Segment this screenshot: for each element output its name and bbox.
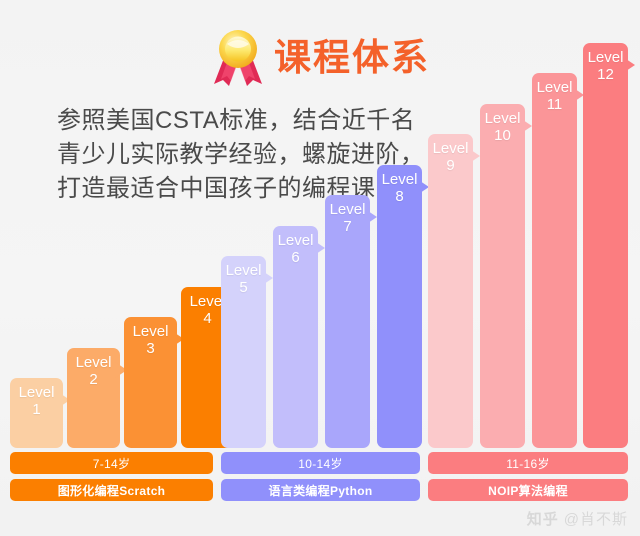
age-range-noip: 11-16岁 xyxy=(428,452,628,474)
bar-level-number: 2 xyxy=(67,371,120,388)
course-python: 语言类编程Python xyxy=(221,479,420,501)
bar-label: Level 5 xyxy=(221,262,266,296)
watermark: 知乎 @肖不斯 xyxy=(527,508,628,529)
bar-label-text: Level xyxy=(588,49,624,66)
bar-level-number: 8 xyxy=(377,188,422,205)
bar-label-text: Level xyxy=(19,384,55,401)
bar-label-text: Level xyxy=(76,354,112,371)
bar-level-number: 9 xyxy=(428,157,473,174)
bar-level-9: Level 9 xyxy=(428,134,473,448)
bar-level-3: Level 3 xyxy=(124,317,177,448)
bar-level-7: Level 7 xyxy=(325,195,370,448)
bar-label: Level 7 xyxy=(325,201,370,235)
bar-label-text: Level xyxy=(485,110,521,127)
bar-level-12: Level 12 xyxy=(583,43,628,448)
bar-label-text: Level xyxy=(330,201,366,218)
course-scratch: 图形化编程Scratch xyxy=(10,479,213,501)
bar-level-number: 1 xyxy=(10,401,63,418)
bar-label-text: Level xyxy=(382,171,418,188)
watermark-platform: 知乎 xyxy=(527,508,559,529)
bar-label-text: Level xyxy=(537,79,573,96)
bar-level-number: 12 xyxy=(583,66,628,83)
course-noip: NOIP算法编程 xyxy=(428,479,628,501)
bar-label: Level 10 xyxy=(480,110,525,144)
bar-label-text: Level xyxy=(133,323,169,340)
age-range-scratch: 7-14岁 xyxy=(10,452,213,474)
bar-level-10: Level 10 xyxy=(480,104,525,448)
bar-label: Level 1 xyxy=(10,384,63,418)
bar-label: Level 12 xyxy=(583,49,628,83)
bar-level-1: Level 1 xyxy=(10,378,63,448)
watermark-author: @肖不斯 xyxy=(564,508,628,529)
bar-label: Level 11 xyxy=(532,79,577,113)
bar-level-number: 7 xyxy=(325,218,370,235)
bar-level-number: 10 xyxy=(480,127,525,144)
bar-label: Level 9 xyxy=(428,140,473,174)
bar-level-11: Level 11 xyxy=(532,73,577,448)
bar-level-number: 5 xyxy=(221,279,266,296)
bar-level-2: Level 2 xyxy=(67,348,120,448)
bar-label-text: Level xyxy=(226,262,262,279)
bar-level-number: 6 xyxy=(273,249,318,266)
bar-label-text: Level xyxy=(278,232,314,249)
bar-label: Level 3 xyxy=(124,323,177,357)
bar-level-number: 3 xyxy=(124,340,177,357)
infographic-canvas: 课程体系 参照美国CSTA标准，结合近千名 青少儿实际教学经验，螺旋进阶， 打造… xyxy=(0,0,640,536)
bar-level-number: 11 xyxy=(532,96,577,113)
bar-level-5: Level 5 xyxy=(221,256,266,448)
bar-level-8: Level 8 xyxy=(377,165,422,448)
age-range-python: 10-14岁 xyxy=(221,452,420,474)
bar-level-6: Level 6 xyxy=(273,226,318,448)
bar-label: Level 2 xyxy=(67,354,120,388)
bar-label: Level 6 xyxy=(273,232,318,266)
bar-label-text: Level xyxy=(433,140,469,157)
bar-label: Level 8 xyxy=(377,171,422,205)
